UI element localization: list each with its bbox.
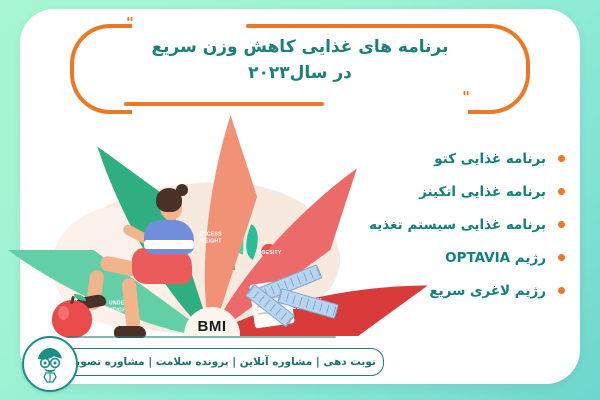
list-item-label: برنامه غذایی کتو xyxy=(434,151,546,167)
list-item-label: برنامه غذایی اتکینز xyxy=(419,184,546,200)
bmi-segment-label: EXCESS WEIGHT xyxy=(188,232,234,245)
list-item[interactable]: رژیم OPTAVIA xyxy=(315,241,565,274)
apple-icon xyxy=(52,300,92,338)
bmi-center-label: BMI xyxy=(184,318,240,335)
title-line-1: برنامه های غذایی کاهش وزن سریع xyxy=(70,34,530,60)
list-item-label: برنامه غذایی سیستم تغذیه xyxy=(369,217,546,233)
bullet-dot-icon xyxy=(558,155,565,162)
footer-services-text: نوبت دهی | مشاوره آنلاین | پرونده سلامت … xyxy=(60,356,376,368)
list-item-label: رژیم لاغری سریع xyxy=(429,283,546,299)
bmi-illustration: UNDER WEIGHT NORMAL EXCESS WEIGHT OBESIT… xyxy=(48,178,348,353)
bullet-dot-icon xyxy=(558,221,565,228)
title-line-2: در سال۲۰۲۳ xyxy=(70,60,530,86)
doctor-mascot-logo[interactable] xyxy=(22,336,78,392)
poster-root: " " برنامه های غذایی کاهش وزن سریع در سا… xyxy=(0,0,600,400)
title-block: " " برنامه های غذایی کاهش وزن سریع در سا… xyxy=(70,18,530,113)
list-item-label: رژیم OPTAVIA xyxy=(445,250,546,266)
list-item[interactable]: برنامه غذایی سیستم تغذیه xyxy=(315,208,565,241)
bullet-dot-icon xyxy=(558,188,565,195)
figure-top-stripe xyxy=(144,240,194,249)
diet-plan-list: برنامه غذایی کتو برنامه غذایی اتکینز برن… xyxy=(315,142,565,307)
doctor-mascot-icon xyxy=(28,342,72,386)
apple-highlight xyxy=(58,306,69,320)
quote-open-icon: " xyxy=(126,16,134,31)
bmi-segment-label: OBESITY xyxy=(246,250,292,257)
quote-close-icon: " xyxy=(462,90,470,105)
bottom-rule-decoration xyxy=(124,102,324,106)
footer-services-bar[interactable]: نوبت دهی | مشاوره آنلاین | پرونده سلامت … xyxy=(52,348,384,376)
figure-hair-bun xyxy=(176,184,188,196)
bullet-dot-icon xyxy=(558,254,565,261)
top-rule-decoration xyxy=(246,24,476,28)
page-title: برنامه های غذایی کاهش وزن سریع در سال۲۰۲… xyxy=(70,34,530,87)
bullet-dot-icon xyxy=(558,287,565,294)
ground-line xyxy=(66,336,336,338)
